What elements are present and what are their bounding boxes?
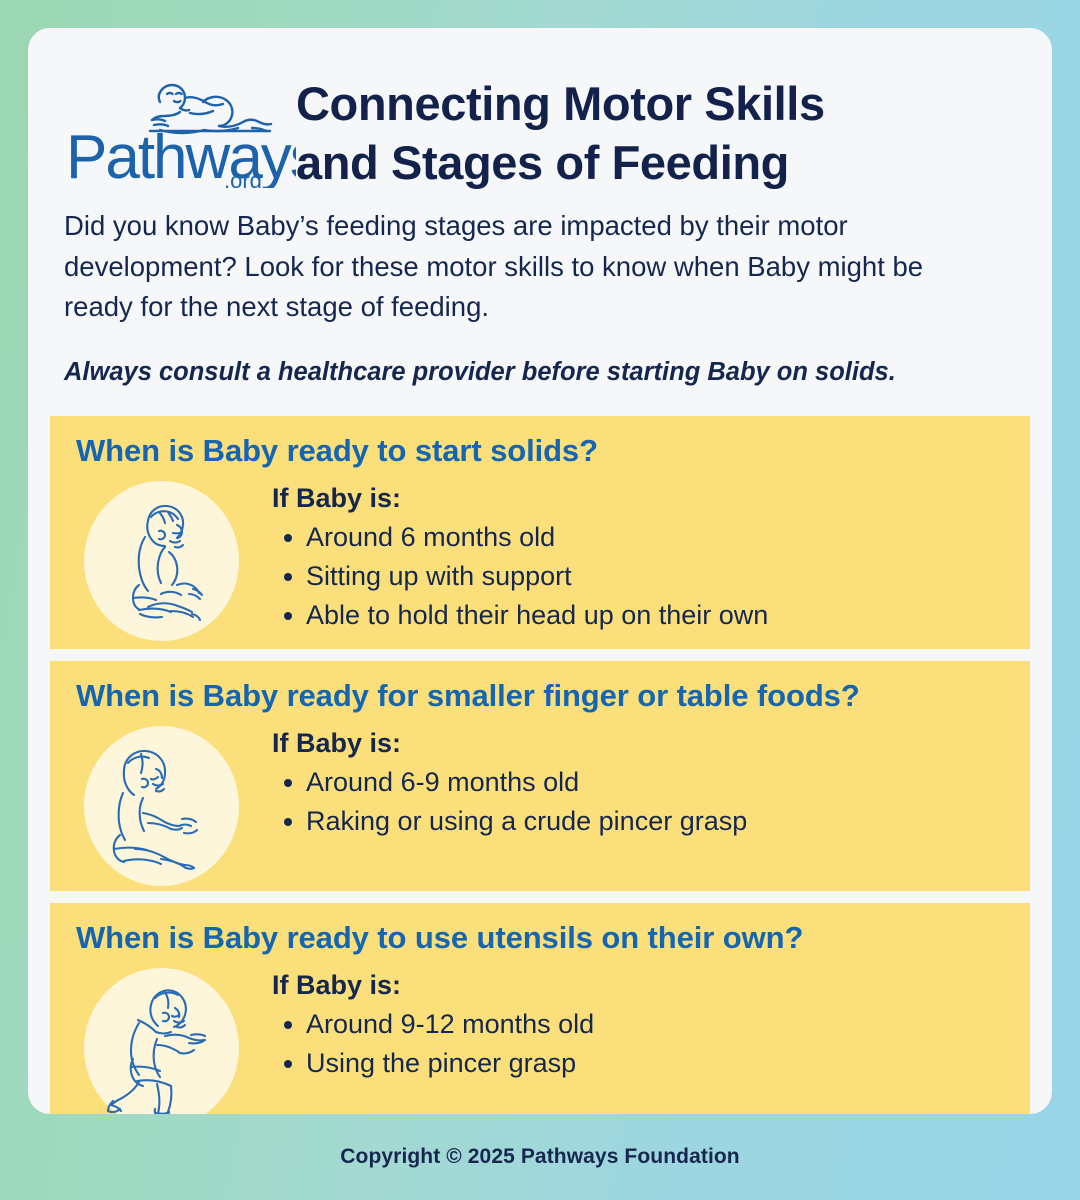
- bullet-block: If Baby is: Around 9-12 months old Using…: [246, 965, 1004, 1083]
- list-item: Around 6 months old: [304, 518, 1004, 557]
- stage-card-body: If Baby is: Around 9-12 months old Using…: [76, 965, 1004, 1114]
- footer: Copyright © 2025 Pathways Foundation: [0, 1114, 1080, 1200]
- criteria-list: Around 6-9 months old Raking or using a …: [272, 763, 1004, 841]
- heading-suffix: ?: [579, 433, 598, 468]
- page-title-line-2: and Stages of Feeding: [296, 136, 789, 189]
- page-title: Connecting Motor Skills and Stages of Fe…: [296, 52, 825, 192]
- stage-card-body: If Baby is: Around 6-9 months old Raking…: [76, 723, 1004, 888]
- stage-card-heading: When is Baby ready to start solids?: [76, 430, 1004, 472]
- illustration-wrapper: [76, 965, 246, 1114]
- content-sheet: Pathways .org Connecting Motor Skills an…: [28, 28, 1052, 1114]
- bullet-block: If Baby is: Around 6-9 months old Raking…: [246, 723, 1004, 841]
- infographic-page: Pathways .org Connecting Motor Skills an…: [0, 0, 1080, 1200]
- stage-card-heading: When is Baby ready for smaller finger or…: [76, 675, 1004, 717]
- heading-emphasis: start solids: [415, 433, 579, 468]
- if-baby-label: If Baby is:: [272, 728, 1004, 759]
- stage-card-body: If Baby is: Around 6 months old Sitting …: [76, 478, 1004, 643]
- list-item: Using the pincer grasp: [304, 1044, 1004, 1083]
- stage-card-heading: When is Baby ready to use utensils on th…: [76, 917, 1004, 959]
- criteria-list: Around 6 months old Sitting up with supp…: [272, 518, 1004, 635]
- list-item: Sitting up with support: [304, 557, 1004, 596]
- heading-suffix: ?: [784, 920, 803, 955]
- bullet-block: If Baby is: Around 6 months old Sitting …: [246, 478, 1004, 635]
- heading-prefix: When is Baby ready to: [76, 433, 415, 468]
- criteria-list: Around 9-12 months old Using the pincer …: [272, 1005, 1004, 1083]
- list-item: Able to hold their head up on their own: [304, 596, 1004, 635]
- baby-sitting-reaching-icon: [84, 726, 239, 886]
- pathways-logo: Pathways .org: [64, 52, 296, 188]
- header: Pathways .org Connecting Motor Skills an…: [28, 28, 1052, 192]
- heading-emphasis: smaller finger or table foods: [427, 678, 841, 713]
- intro-paragraph: Did you know Baby’s feeding stages are i…: [64, 206, 992, 327]
- copyright-text: Copyright © 2025 Pathways Foundation: [340, 1145, 739, 1169]
- svg-text:.org: .org: [224, 168, 262, 188]
- stage-cards: When is Baby ready to start solids?: [28, 416, 1052, 1114]
- list-item: Raking or using a crude pincer grasp: [304, 802, 1004, 841]
- intro-disclaimer: Always consult a healthcare provider bef…: [64, 354, 992, 391]
- list-item: Around 6-9 months old: [304, 763, 1004, 802]
- if-baby-label: If Baby is:: [272, 970, 1004, 1001]
- heading-suffix: ?: [841, 678, 860, 713]
- baby-cruising-standing-icon: [84, 968, 239, 1114]
- baby-sitting-supported-icon: [84, 481, 239, 641]
- stage-card-utensils: When is Baby ready to use utensils on th…: [50, 903, 1030, 1114]
- heading-emphasis: use utensils on their own: [415, 920, 785, 955]
- stage-card-start-solids: When is Baby ready to start solids?: [50, 416, 1030, 649]
- heading-prefix: When is Baby ready to: [76, 920, 415, 955]
- list-item: Around 9-12 months old: [304, 1005, 1004, 1044]
- intro-section: Did you know Baby’s feeding stages are i…: [28, 192, 1052, 391]
- stage-card-finger-foods: When is Baby ready for smaller finger or…: [50, 661, 1030, 891]
- illustration-wrapper: [76, 723, 246, 888]
- page-title-line-1: Connecting Motor Skills: [296, 77, 825, 130]
- heading-prefix: When is Baby ready for: [76, 678, 427, 713]
- illustration-wrapper: [76, 478, 246, 643]
- if-baby-label: If Baby is:: [272, 483, 1004, 514]
